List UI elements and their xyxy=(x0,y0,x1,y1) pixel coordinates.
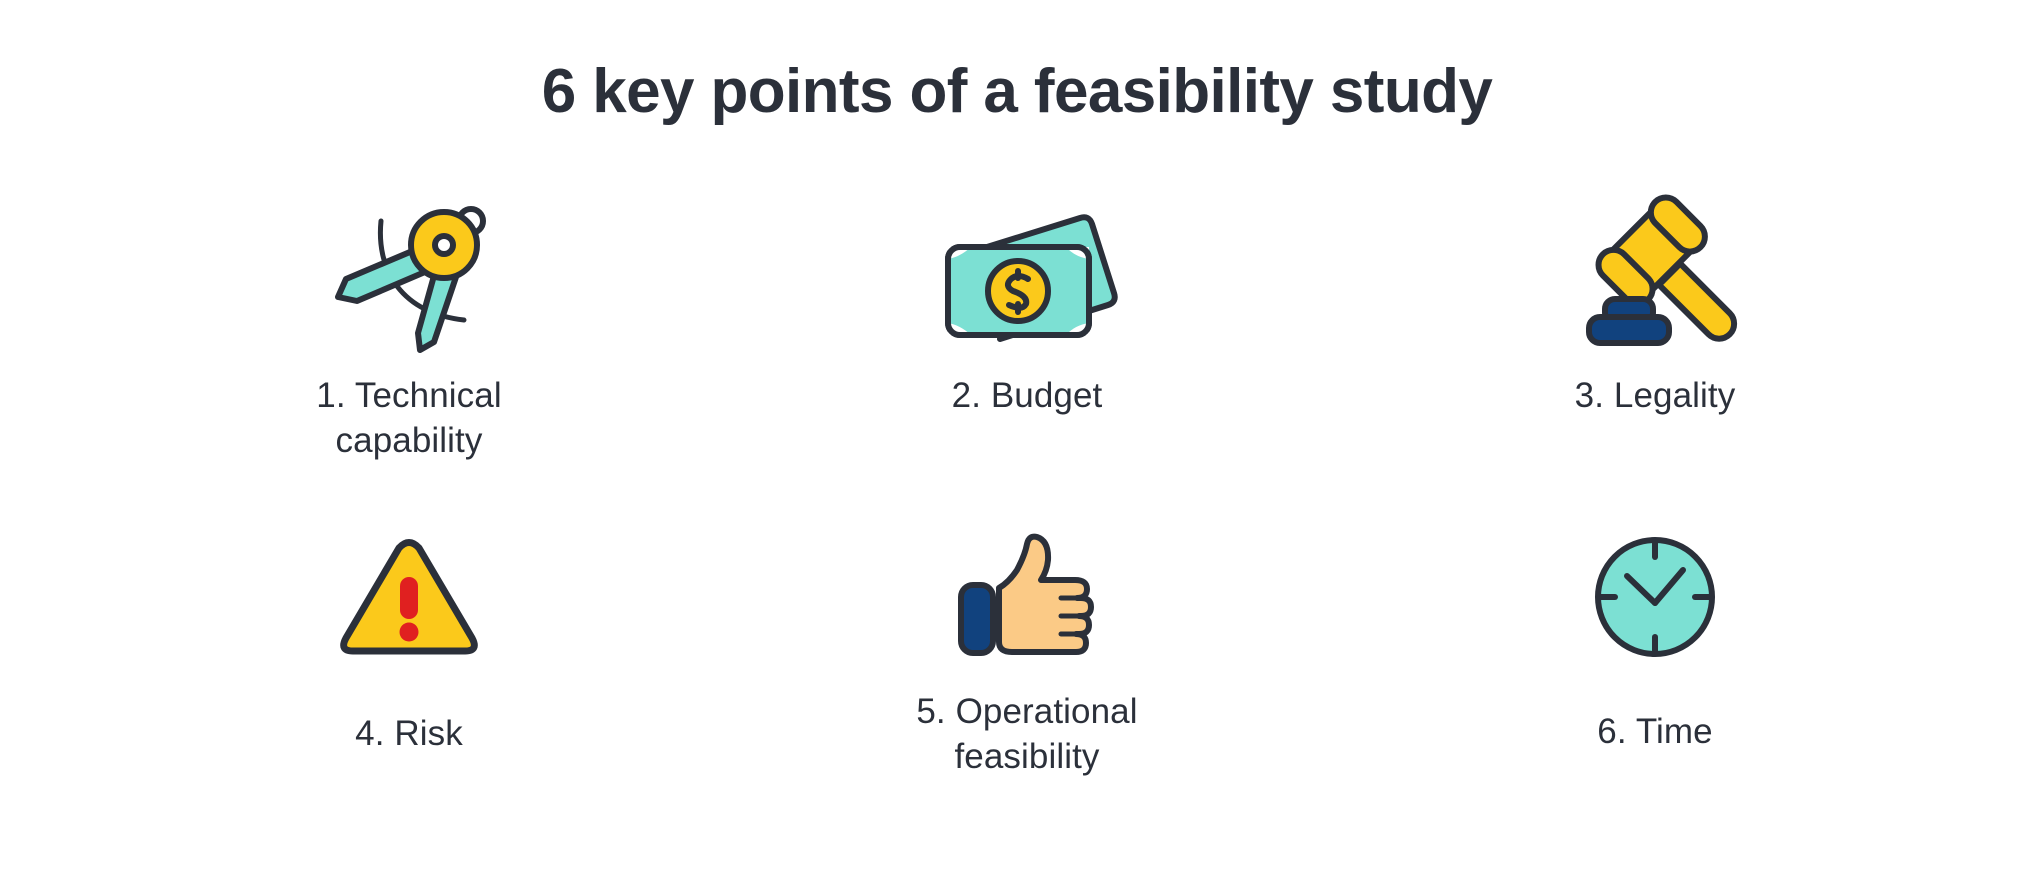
point-label-1: 1. Technical capability xyxy=(244,374,574,464)
clock-icon xyxy=(1555,515,1755,680)
point-item-5: 5. Operational feasibility xyxy=(698,515,1336,845)
point-item-6: 6. Time xyxy=(1336,515,1974,845)
banknotes-money-icon xyxy=(927,185,1127,360)
point-label-5: 5. Operational feasibility xyxy=(916,690,1137,780)
point-item-2: 2. Budget xyxy=(698,185,1336,515)
point-label-2: 2. Budget xyxy=(952,374,1103,419)
point-label-4: 4. Risk xyxy=(355,712,463,757)
compass-divider-icon xyxy=(309,185,509,360)
point-item-4: 4. Risk xyxy=(60,515,698,845)
point-label-3: 3. Legality xyxy=(1575,374,1736,419)
gavel-icon xyxy=(1555,185,1755,360)
point-label-6: 6. Time xyxy=(1597,710,1712,755)
page-title: 6 key points of a feasibility study xyxy=(0,58,2034,126)
point-item-3: 3. Legality xyxy=(1336,185,1974,515)
points-grid: 1. Technical capability xyxy=(60,185,1974,845)
point-item-1: 1. Technical capability xyxy=(60,185,698,515)
warning-triangle-icon xyxy=(309,515,509,680)
thumbs-up-icon xyxy=(927,515,1127,680)
infographic-page: 6 key points of a feasibility study xyxy=(0,0,2034,886)
